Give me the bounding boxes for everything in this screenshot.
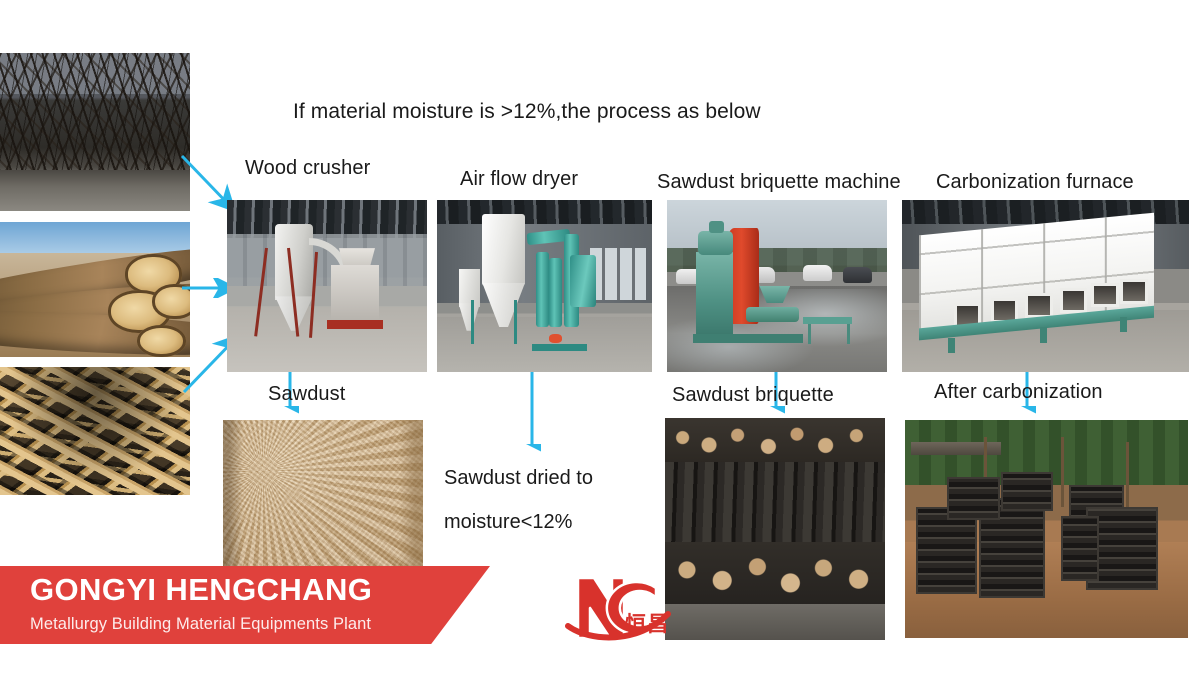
note-line-1: Sawdust dried to bbox=[444, 456, 593, 500]
log-cut-face bbox=[152, 284, 190, 319]
photo-sawdust-briquette bbox=[665, 418, 885, 640]
furnace-leg bbox=[1120, 317, 1127, 332]
parked-car bbox=[803, 265, 832, 280]
caption-carbonization-furnace: Carbonization furnace bbox=[936, 171, 1134, 194]
briquette-machine-motor bbox=[698, 231, 733, 255]
briquette-ground bbox=[665, 604, 885, 640]
scraps-shadow bbox=[0, 367, 190, 495]
table-leg bbox=[847, 324, 850, 345]
table-leg bbox=[808, 324, 811, 345]
headline-text: If material moisture is >12%,the process… bbox=[293, 100, 761, 124]
crusher-red-base bbox=[327, 320, 383, 329]
charcoal-stack bbox=[947, 477, 999, 520]
note-line-2: moisture<12% bbox=[444, 500, 593, 544]
canopy-post bbox=[1061, 437, 1064, 507]
crusher-body bbox=[331, 265, 379, 323]
photo-tree-branches bbox=[0, 53, 190, 211]
photo-stacked-logs bbox=[0, 222, 190, 357]
logo-chinese-text: 恒昌 bbox=[625, 608, 669, 638]
dryer-small-cyclone bbox=[459, 269, 481, 307]
dryer-pipe bbox=[549, 258, 562, 327]
charcoal-stack bbox=[1061, 516, 1099, 581]
photo-after-carbonization bbox=[905, 420, 1188, 638]
caption-after-carbonization: After carbonization bbox=[934, 381, 1103, 404]
dryer-pipe bbox=[536, 252, 549, 328]
briquette-top-ends bbox=[665, 418, 885, 467]
crusher-roof bbox=[227, 200, 427, 238]
photo-wood-scraps bbox=[0, 367, 190, 495]
furnace-door bbox=[1120, 279, 1148, 304]
dryer-window bbox=[590, 248, 646, 300]
brand-subtitle: Metallurgy Building Material Equipments … bbox=[30, 615, 371, 634]
charcoal-stack bbox=[1001, 472, 1053, 511]
briquette-machine-output-table bbox=[803, 317, 851, 324]
photo-air-flow-dryer bbox=[437, 200, 652, 372]
sawdust-edges bbox=[223, 420, 423, 590]
logs-sky bbox=[0, 222, 190, 253]
photo-sawdust bbox=[223, 420, 423, 590]
caption-sawdust: Sawdust bbox=[268, 383, 345, 406]
arrow-dryer-to-note bbox=[523, 372, 541, 454]
furnace-leg bbox=[948, 338, 955, 353]
dryer-frame bbox=[514, 300, 517, 345]
dryer-frame bbox=[471, 300, 474, 345]
branches-ground bbox=[0, 170, 190, 211]
caption-wood-crusher: Wood crusher bbox=[245, 157, 370, 180]
briquette-machine-barrel bbox=[746, 307, 799, 322]
dryer-teal-cyclone bbox=[570, 255, 596, 307]
dryer-red-part bbox=[549, 334, 562, 343]
dryer-base bbox=[532, 344, 588, 351]
canopy-post bbox=[1126, 442, 1129, 507]
parked-car bbox=[843, 267, 872, 282]
carbonized-canopy bbox=[911, 442, 1002, 455]
furnace-leg bbox=[1040, 327, 1047, 342]
photo-wood-crusher bbox=[227, 200, 427, 372]
photo-carbonization-furnace bbox=[902, 200, 1189, 372]
caption-sawdust-briquette-machine: Sawdust briquette machine bbox=[657, 171, 901, 194]
log-cut-face bbox=[137, 325, 186, 357]
briquette-machine-base bbox=[693, 334, 803, 343]
briquette-machine-motor-cap bbox=[709, 221, 724, 233]
furnace-door bbox=[1091, 283, 1119, 308]
caption-sawdust-briquette: Sawdust briquette bbox=[672, 384, 834, 407]
briquette-machine-frame bbox=[696, 252, 733, 335]
dryer-main-cyclone bbox=[482, 214, 525, 286]
slide-canvas: If material moisture is >12%,the process… bbox=[0, 0, 1200, 700]
sawdust-dried-note: Sawdust dried to moisture<12% bbox=[444, 456, 593, 544]
furnace-door bbox=[1025, 293, 1053, 318]
brand-title: GONGYI HENGCHANG bbox=[30, 572, 372, 608]
photo-sawdust-briquette-machine bbox=[667, 200, 887, 372]
briquette-lower-ends bbox=[665, 542, 885, 604]
furnace-door bbox=[1060, 288, 1088, 313]
charcoal-stack bbox=[916, 507, 977, 594]
caption-air-flow-dryer: Air flow dryer bbox=[460, 168, 578, 191]
briquette-rods bbox=[665, 462, 885, 546]
